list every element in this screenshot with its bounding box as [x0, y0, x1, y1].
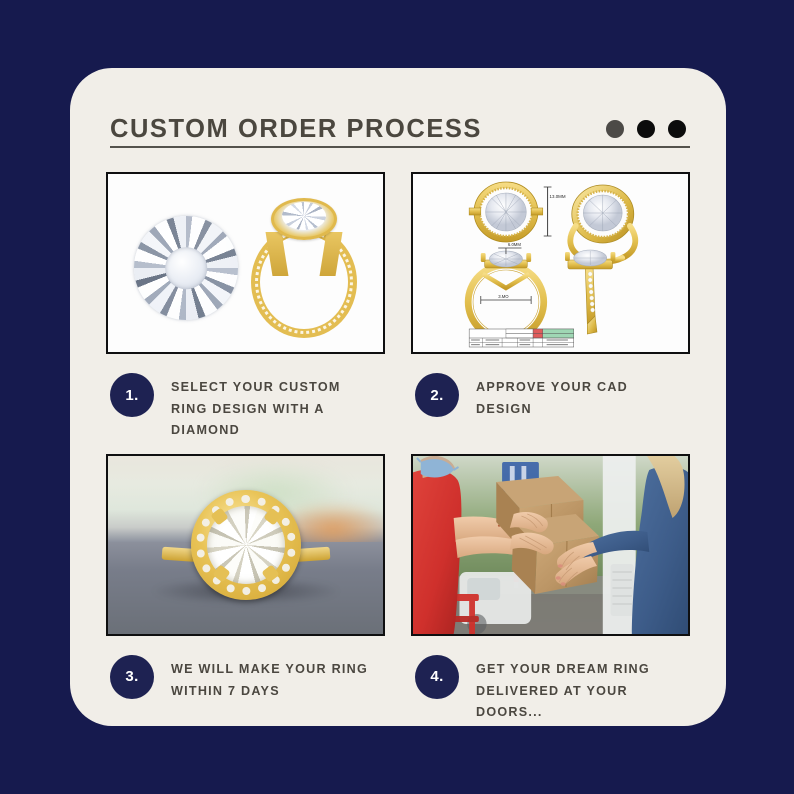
cad-drawing-icon: 13.0MM	[413, 174, 688, 352]
step-4-image-panel[interactable]: Masked delivery courier in a red shirt h…	[411, 454, 690, 636]
step-1-number-badge: 1.	[110, 373, 154, 417]
step-4-number-badge: 4.	[415, 655, 459, 699]
process-card: CUSTOM ORDER PROCESS Round brilliant cut…	[70, 68, 726, 726]
step-4-label: GET YOUR DREAM RING DELIVERED AT YOUR DO…	[476, 655, 676, 724]
gold-halo-ring-profile-icon	[245, 196, 363, 338]
step-3-image-panel[interactable]: Finished yellow gold halo diamond ring p…	[106, 454, 385, 636]
step-3-number-badge: 3.	[110, 655, 154, 699]
window-dot-3-icon[interactable]	[668, 120, 686, 138]
step-1-image-alt: Round brilliant cut diamond next to a ye…	[108, 174, 109, 175]
cad-dimension-inner: 3.MO	[498, 294, 509, 299]
window-dot-2-icon[interactable]	[637, 120, 655, 138]
step-1-image-panel[interactable]: Round brilliant cut diamond next to a ye…	[106, 172, 385, 354]
cad-dimension-mid: 6.0MM	[508, 242, 521, 247]
step-3-label: WE WILL MAKE YOUR RING WITHIN 7 DAYS	[171, 655, 371, 702]
window-dots	[606, 120, 688, 138]
step-2-image-panel[interactable]: CAD technical rendering of the gold halo…	[411, 172, 690, 354]
step-3-image-alt: Finished yellow gold halo diamond ring p…	[108, 456, 109, 457]
steps-grid: Round brilliant cut diamond next to a ye…	[106, 172, 690, 708]
delivery-photo-icon	[413, 456, 688, 634]
finished-halo-ring-icon	[191, 490, 301, 600]
step-2-caption: 2. APPROVE YOUR CAD DESIGN	[411, 354, 690, 420]
page-title: CUSTOM ORDER PROCESS	[110, 115, 482, 144]
cad-dimension-top: 13.0MM	[550, 194, 566, 199]
cad-spec-table	[469, 329, 574, 347]
step-3: Finished yellow gold halo diamond ring p…	[106, 454, 385, 724]
step-2-label: APPROVE YOUR CAD DESIGN	[476, 373, 676, 420]
step-1: Round brilliant cut diamond next to a ye…	[106, 172, 385, 442]
header-divider	[110, 146, 690, 148]
step-2: CAD technical rendering of the gold halo…	[411, 172, 690, 442]
round-diamond-icon	[134, 216, 238, 320]
step-1-label: SELECT YOUR CUSTOM RING DESIGN WITH A DI…	[171, 373, 371, 442]
infographic-root: CUSTOM ORDER PROCESS Round brilliant cut…	[0, 0, 794, 794]
step-2-number-badge: 2.	[415, 373, 459, 417]
window-dot-1-icon[interactable]	[606, 120, 624, 138]
card-header: CUSTOM ORDER PROCESS	[110, 98, 688, 160]
step-4: Masked delivery courier in a red shirt h…	[411, 454, 690, 724]
ring-center-stone	[282, 202, 326, 230]
step-1-caption: 1. SELECT YOUR CUSTOM RING DESIGN WITH A…	[106, 354, 385, 442]
step-3-caption: 3. WE WILL MAKE YOUR RING WITHIN 7 DAYS	[106, 636, 385, 702]
step-4-caption: 4. GET YOUR DREAM RING DELIVERED AT YOUR…	[411, 636, 690, 724]
